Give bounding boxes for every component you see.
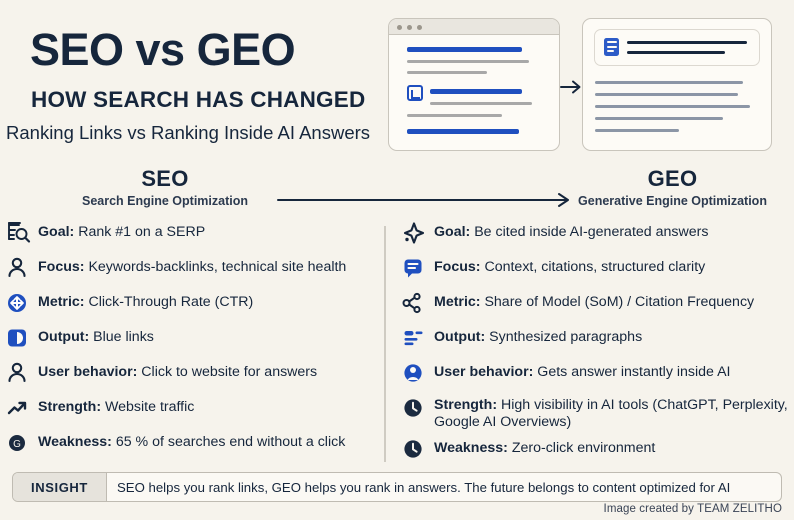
list-item: Output: Synthesized paragraphs [402,327,790,349]
trending-up-icon [6,397,32,419]
browser-titlebar [389,19,559,35]
serp-link-line [407,47,522,52]
sparkle-icon [402,222,428,244]
serp-text-line [407,71,487,74]
list-item: G Weakness: 65 % of searches end without… [6,432,378,454]
list-item: Focus: Context, citations, structured cl… [402,257,790,279]
ai-paragraph-line [595,117,723,120]
window-dot-icon [417,25,422,30]
list-item-text: Metric: Click-Through Rate (CTR) [38,292,253,311]
share-nodes-icon [402,292,428,314]
ai-answer-mockup [582,18,772,151]
serp-link-line [430,89,522,94]
list-item: Goal: Rank #1 on a SERP [6,222,378,244]
svg-text:G: G [13,439,21,450]
ai-paragraph-line [595,129,679,132]
list-item: User behavior: Gets answer instantly ins… [402,362,790,384]
seo-to-geo-arrow-icon [277,192,573,208]
list-item-text: Weakness: 65 % of searches end without a… [38,432,345,451]
list-item: Output: Blue links [6,327,378,349]
list-item-text: Strength: High visibility in AI tools (C… [434,397,790,431]
paragraph-list-icon [402,327,428,349]
window-dot-icon [397,25,402,30]
hero-block: SEO vs GEO HOW SEARCH HAS CHANGED Rankin… [0,0,380,160]
list-item: Goal: Be cited inside AI-generated answe… [402,222,790,244]
list-item-text: Strength: Website traffic [38,397,194,416]
list-item-text: Focus: Keywords-backlinks, technical sit… [38,257,346,276]
seo-column-header: SEO Search Engine Optimization [70,166,260,208]
list-item: Metric: Click-Through Rate (CTR) [6,292,378,314]
ai-card-line [627,41,747,44]
list-item-text: User behavior: Click to website for answ… [38,362,317,381]
geo-subtitle: Generative Engine Optimization [565,194,780,208]
clock-icon [402,397,428,419]
chat-lines-icon [402,257,428,279]
geo-title: GEO [565,166,780,192]
list-item-text: Metric: Share of Model (SoM) / Citation … [434,292,754,311]
clock-icon [402,438,428,460]
geo-column-header: GEO Generative Engine Optimization [565,166,780,208]
list-item: User behavior: Click to website for answ… [6,362,378,384]
column-divider [384,226,386,462]
list-item-text: Weakness: Zero-click environment [434,438,655,457]
list-item: Strength: High visibility in AI tools (C… [402,397,790,431]
user-circle-icon [402,362,428,384]
page-subtitle: HOW SEARCH HAS CHANGED [31,87,365,113]
credit-footer: Image created by TEAM ZELITHO [604,503,782,515]
page-tagline: Ranking Links vs Ranking Inside AI Answe… [6,122,370,144]
window-dot-icon [407,25,412,30]
favicon-icon [407,85,423,101]
list-item: Focus: Keywords-backlinks, technical sit… [6,257,378,279]
document-icon [604,38,619,56]
list-item: Metric: Share of Model (SoM) / Citation … [402,292,790,314]
list-item-text: Goal: Be cited inside AI-generated answe… [434,222,708,241]
serp-link-line [407,129,519,134]
list-item: Strength: Website traffic [6,397,378,419]
person-icon [6,257,32,279]
serp-text-line [430,102,532,105]
g-circle-icon: G [6,432,32,454]
insight-label: INSIGHT [13,473,107,501]
contrast-square-icon [6,327,32,349]
insight-text: SEO helps you rank links, GEO helps you … [107,473,781,501]
infographic-page: SEO vs GEO HOW SEARCH HAS CHANGED Rankin… [0,0,794,520]
seo-list: Goal: Rank #1 on a SERP Focus: Keywords-… [6,222,378,467]
page-title: SEO vs GEO [30,24,295,76]
move-arrows-icon [6,292,32,314]
ai-answer-card [594,29,760,66]
insight-bar: INSIGHT SEO helps you rank links, GEO he… [12,472,782,502]
serp-text-line [407,60,529,63]
geo-list: Goal: Be cited inside AI-generated answe… [402,222,790,460]
transition-arrow-icon [560,79,584,95]
list-item: Weakness: Zero-click environment [402,438,790,460]
person-icon [6,362,32,384]
ai-paragraph-line [595,105,750,108]
ai-paragraph-line [595,93,738,96]
ai-card-line [627,51,725,54]
seo-title: SEO [70,166,260,192]
search-document-icon [6,222,32,244]
list-item-text: Goal: Rank #1 on a SERP [38,222,205,241]
list-item-text: Output: Synthesized paragraphs [434,327,642,346]
list-item-text: Output: Blue links [38,327,154,346]
list-item-text: User behavior: Gets answer instantly ins… [434,362,731,381]
list-item-text: Focus: Context, citations, structured cl… [434,257,705,276]
serp-browser-mockup [388,18,560,151]
seo-subtitle: Search Engine Optimization [70,194,260,208]
serp-text-line [407,114,502,117]
ai-paragraph-line [595,81,743,84]
